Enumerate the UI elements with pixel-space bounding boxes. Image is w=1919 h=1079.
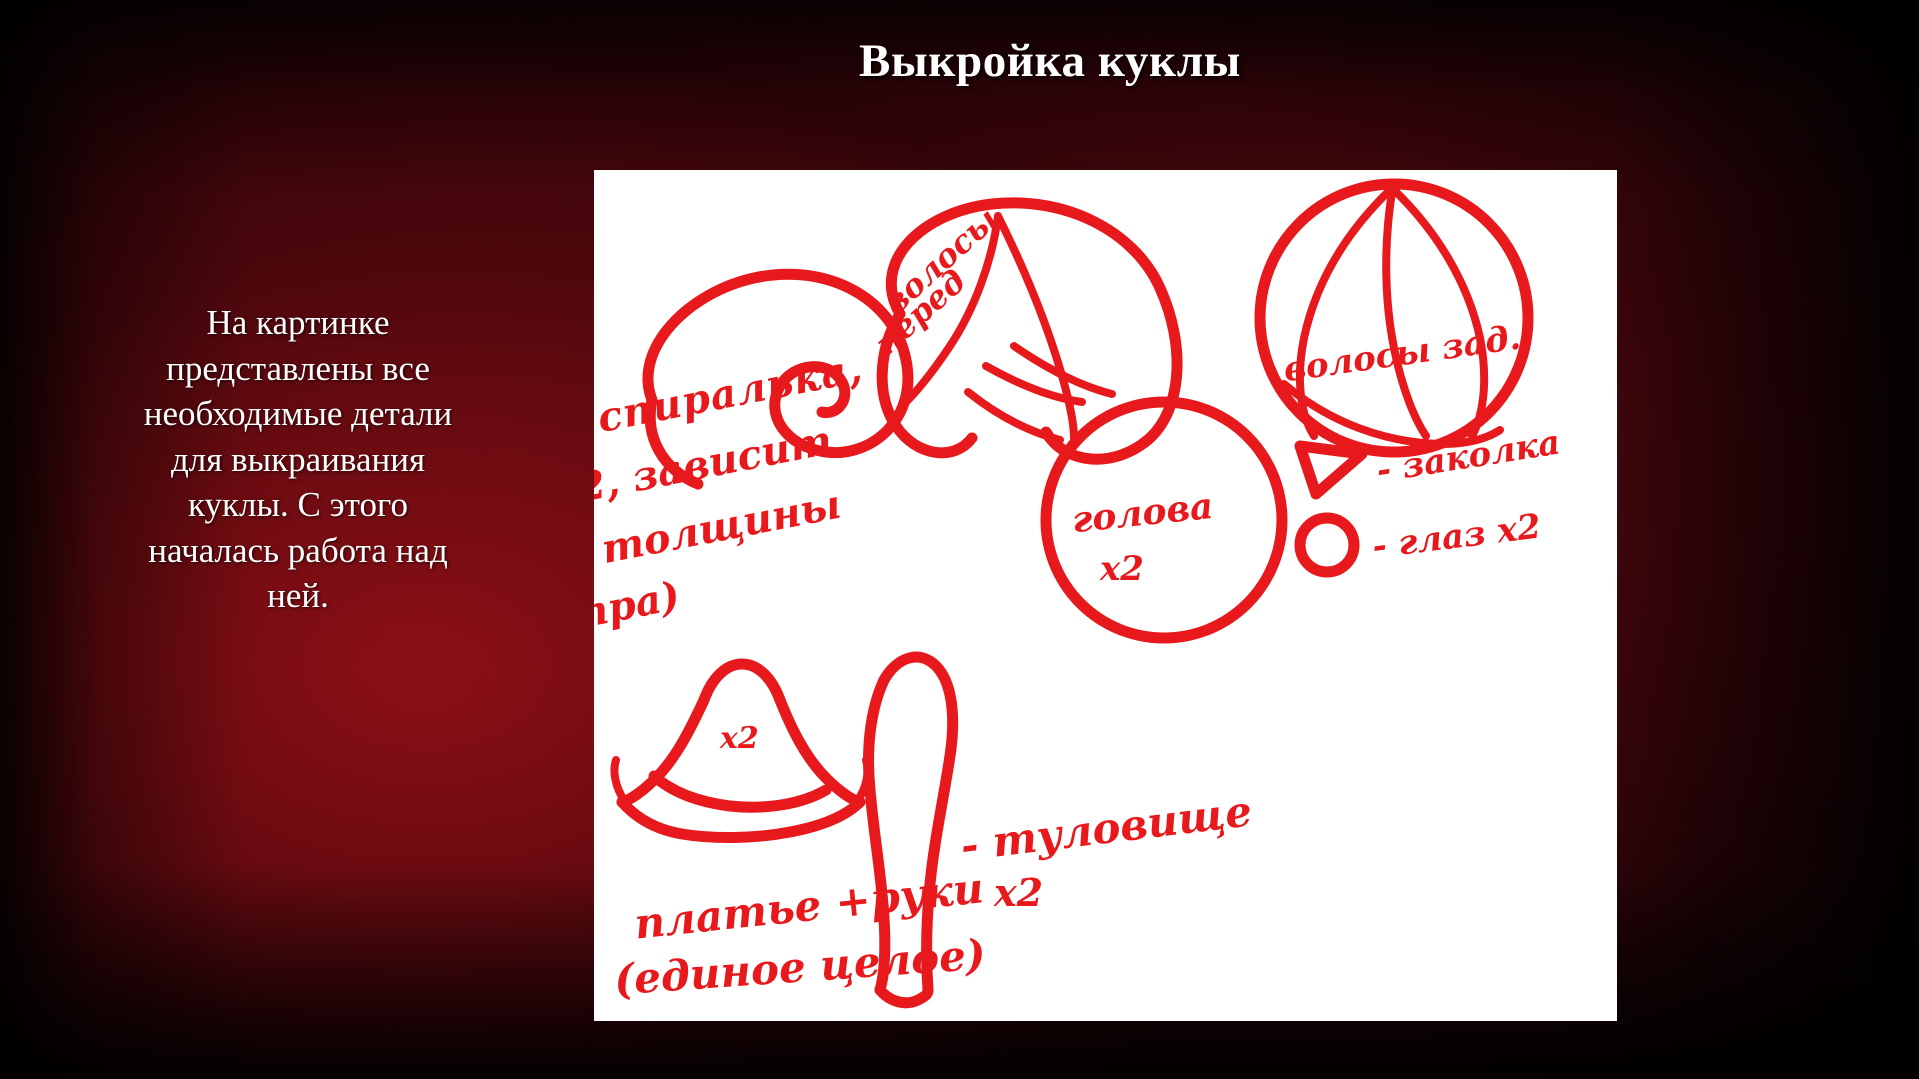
- annotation-dress-count: х2: [719, 721, 759, 756]
- svg-text:- туловище: - туловище: [958, 786, 1255, 870]
- slide-body-text: На картинке представлены все необходимые…: [138, 300, 458, 619]
- pattern-picture-panel: - спиралька, (х2, зависит от толщины фет…: [594, 170, 1617, 1021]
- svg-text:фетра): фетра): [594, 572, 684, 652]
- svg-text:х2: х2: [719, 721, 759, 756]
- svg-text:х2: х2: [993, 870, 1043, 915]
- hair-back-shape: [1260, 184, 1528, 452]
- annotation-eye: - глаз х2: [1370, 506, 1543, 566]
- svg-text:- глаз х2: - глаз х2: [1370, 506, 1543, 566]
- page-title: Выкройка куклы: [470, 36, 1630, 88]
- annotation-spiral: - спиралька, (х2, зависит от толщины фет…: [594, 345, 867, 652]
- svg-text:голова: голова: [1070, 485, 1215, 542]
- doll-pattern-drawing: - спиралька, (х2, зависит от толщины фет…: [594, 170, 1617, 1021]
- annotation-torso: - туловище х2: [958, 786, 1255, 915]
- annotation-head: голова х2: [1070, 485, 1215, 589]
- eye-shape: [1300, 518, 1354, 572]
- hairpin-shape: [1300, 446, 1362, 494]
- presentation-slide: Выкройка куклы На картинке представлены …: [0, 0, 1919, 1079]
- svg-text:х2: х2: [1099, 549, 1144, 589]
